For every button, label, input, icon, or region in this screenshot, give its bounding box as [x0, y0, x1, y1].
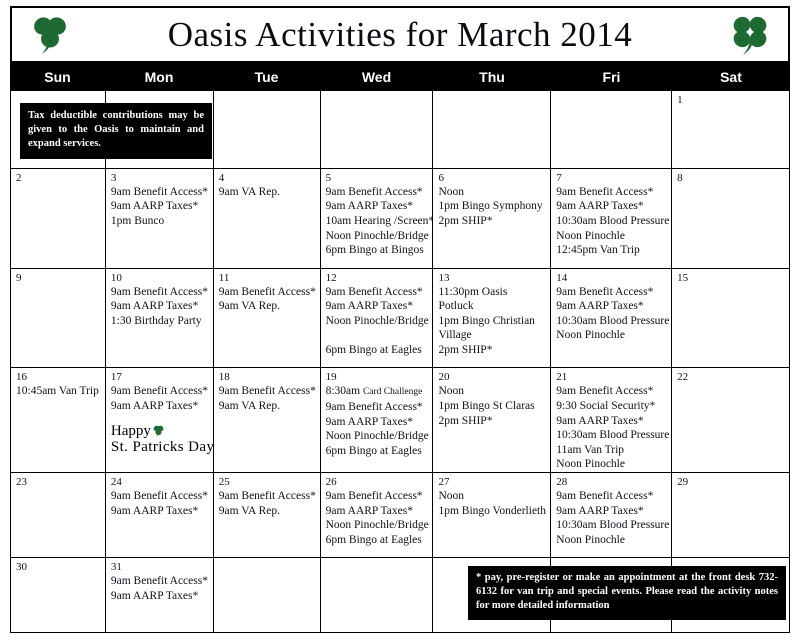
day-events: 9am Benefit Access*9am AARP Taxes*1:30 B… [111, 285, 209, 329]
calendar-page: Oasis Activities for March 2014 Sun Mon … [0, 0, 800, 643]
day-events: Noon1pm Bingo Symphony2pm SHIP* [438, 185, 546, 229]
event-item[interactable]: 10:30am Blood Pressure [556, 428, 667, 443]
event-item[interactable]: 2pm SHIP* [438, 414, 546, 429]
day-number: 9 [16, 272, 101, 285]
day-cell-9[interactable]: 9 [11, 269, 106, 369]
event-item[interactable]: 9am AARP Taxes* [556, 504, 667, 519]
day-cell-8[interactable]: 8 [672, 169, 790, 269]
calendar-week-row: 1610:45am Van Trip179am Benefit Access*9… [11, 368, 790, 473]
day-cell-25[interactable]: 259am Benefit Access*9am VA Rep. [214, 473, 321, 558]
day-cell-7[interactable]: 79am Benefit Access*9am AARP Taxes* 10:3… [551, 169, 672, 269]
event-item[interactable]: 1pm Bunco [111, 214, 209, 229]
event-item[interactable]: 9am Benefit Access* [556, 185, 667, 200]
page-title: Oasis Activities for March 2014 [70, 17, 730, 52]
event-item[interactable]: Noon Pinochle/Bridge [326, 314, 429, 329]
weekday-header-row: Sun Mon Tue Wed Thu Fri Sat [10, 63, 790, 90]
day-number: 13 [438, 272, 546, 285]
shamrock-icon [152, 424, 165, 437]
day-cell-13[interactable]: 1311:30pm OasisPotluck1pm Bingo Christia… [433, 269, 551, 369]
day-number: 23 [16, 476, 101, 489]
day-cell-empty [551, 91, 672, 169]
event-item[interactable]: 9am Benefit Access* [556, 384, 667, 399]
event-item[interactable]: 9am VA Rep. [219, 504, 316, 519]
day-cell-2[interactable]: 2 [11, 169, 106, 269]
event-item[interactable]: 9am AARP Taxes* [556, 299, 667, 314]
day-number: 28 [556, 476, 667, 489]
day-cell-31[interactable]: 319am Benefit Access*9am AARP Taxes* [106, 558, 214, 633]
day-number: 24 [111, 476, 209, 489]
day-events: 9am Benefit Access*9am AARP Taxes*Noon P… [326, 285, 429, 358]
day-cell-14[interactable]: 149am Benefit Access*9am AARP Taxes* 10:… [551, 269, 672, 369]
day-number: 2 [16, 172, 101, 185]
day-cell-26[interactable]: 269am Benefit Access*9am AARP Taxes*Noon… [321, 473, 434, 558]
event-item[interactable]: 9am Benefit Access* [219, 384, 316, 399]
event-item[interactable]: 1pm Bingo St Claras [438, 399, 546, 414]
day-cell-24[interactable]: 249am Benefit Access*9am AARP Taxes* [106, 473, 214, 558]
event-item[interactable]: 9am VA Rep. [219, 399, 316, 414]
event-item[interactable]: 9:30 Social Security* [556, 399, 667, 414]
day-cell-17[interactable]: 179am Benefit Access*9am AARP Taxes*Happ… [106, 368, 214, 473]
event-item[interactable]: 12:45pm Van Trip [556, 243, 667, 258]
day-cell-6[interactable]: 6Noon1pm Bingo Symphony2pm SHIP* [433, 169, 551, 269]
day-cell-10[interactable]: 109am Benefit Access*9am AARP Taxes*1:30… [106, 269, 214, 369]
event-item[interactable]: 9am AARP Taxes* [111, 504, 209, 519]
day-number: 1 [677, 94, 785, 107]
day-number: 31 [111, 561, 209, 574]
day-number: 21 [556, 371, 667, 384]
event-item[interactable]: 6pm Bingo at Eagles [326, 444, 429, 459]
four-leaf-clover-icon [730, 13, 770, 57]
day-events: 9am Benefit Access*9am AARP Taxes* [111, 489, 209, 518]
weekday-tue: Tue [213, 63, 320, 90]
event-item[interactable]: 9am Benefit Access* [111, 574, 209, 589]
event-item[interactable]: 1:30 Birthday Party [111, 314, 209, 329]
day-number: 8 [677, 172, 785, 185]
day-number: 3 [111, 172, 209, 185]
event-item[interactable]: Noon [438, 489, 546, 504]
day-cell-22[interactable]: 22 [672, 368, 790, 473]
event-spacer [326, 328, 429, 343]
event-item[interactable]: 1pm Bingo Symphony [438, 199, 546, 214]
day-number: 4 [219, 172, 316, 185]
st-patricks-line2: St. Patricks Day [111, 439, 209, 455]
day-events: 9am Benefit Access*9am AARP Taxes* 1pm B… [111, 185, 209, 229]
event-item[interactable]: 9am Benefit Access* [556, 285, 667, 300]
event-item[interactable]: 8:30am Card Challenge [326, 384, 429, 400]
st-patricks-line1: Happy [111, 423, 151, 439]
calendar-week-row: 239am Benefit Access*9am AARP Taxes* 1pm… [11, 169, 790, 269]
event-item[interactable]: 9am Benefit Access* [111, 489, 209, 504]
day-events: Noon1pm Bingo St Claras2pm SHIP* [438, 384, 546, 428]
day-number: 18 [219, 371, 316, 384]
event-item[interactable]: Noon Pinochle [556, 229, 667, 244]
event-item[interactable]: 9am Benefit Access* [326, 285, 429, 300]
day-cell-empty [214, 91, 321, 169]
day-cell-19[interactable]: 198:30am Card Challenge9am Benefit Acces… [321, 368, 434, 473]
day-events: 9am Benefit Access*9:30 Social Security*… [556, 384, 667, 472]
weekday-sun: Sun [10, 63, 105, 90]
day-cell-4[interactable]: 49am VA Rep. [214, 169, 321, 269]
event-item[interactable]: 2pm SHIP* [438, 214, 546, 229]
event-item[interactable]: 9am AARP Taxes* [111, 399, 209, 414]
day-number: 6 [438, 172, 546, 185]
title-banner: Oasis Activities for March 2014 [10, 6, 790, 63]
day-cell-29[interactable]: 29 [672, 473, 790, 558]
day-events: 10:45am Van Trip [16, 384, 101, 399]
day-events: 9am Benefit Access*9am VA Rep. [219, 489, 316, 518]
day-number: 20 [438, 371, 546, 384]
day-cell-21[interactable]: 219am Benefit Access*9:30 Social Securit… [551, 368, 672, 473]
day-cell-16[interactable]: 1610:45am Van Trip [11, 368, 106, 473]
event-item[interactable]: 10am Hearing /Screen* [326, 214, 429, 229]
day-number: 15 [677, 272, 785, 285]
event-item[interactable]: Noon [438, 384, 546, 399]
day-events: 11:30pm OasisPotluck1pm Bingo ChristianV… [438, 285, 546, 358]
day-events: 8:30am Card Challenge9am Benefit Access*… [326, 384, 429, 458]
event-item[interactable]: Noon Pinochle/Bridge [326, 229, 429, 244]
day-events: 9am Benefit Access*9am AARP Taxes* 10:30… [556, 489, 667, 547]
event-item[interactable]: Noon [438, 185, 546, 200]
event-item[interactable]: 9am AARP Taxes* [326, 415, 429, 430]
event-item[interactable]: 10:45am Van Trip [16, 384, 101, 399]
event-item[interactable]: Potluck [438, 299, 546, 314]
event-item[interactable]: 9am Benefit Access* [556, 489, 667, 504]
day-events: 9am Benefit Access*9am AARP Taxes*Noon P… [326, 489, 429, 547]
st-patricks-day-graphic: HappySt. Patricks Day [111, 423, 209, 455]
event-item[interactable]: Noon Pinochle/Bridge [326, 429, 429, 444]
event-item[interactable]: 1pm Bingo Vonderlieth [438, 504, 546, 519]
day-cell-23[interactable]: 23 [11, 473, 106, 558]
event-item[interactable]: Noon Pinochle [556, 457, 667, 472]
weekday-mon: Mon [105, 63, 213, 90]
calendar-week-row: 9109am Benefit Access*9am AARP Taxes*1:3… [11, 269, 790, 369]
event-item[interactable]: 10:30am Blood Pressure [556, 518, 667, 533]
event-item[interactable]: 9am AARP Taxes* [111, 299, 209, 314]
day-number: 19 [326, 371, 429, 384]
event-item[interactable]: 9am AARP Taxes* [111, 589, 209, 604]
event-item[interactable]: 9am VA Rep. [219, 185, 316, 200]
tax-deductible-note: Tax deductible contributions may be give… [20, 103, 212, 159]
day-events: 9am Benefit Access*9am AARP Taxes* [111, 574, 209, 603]
event-item[interactable]: 9am VA Rep. [219, 299, 316, 314]
day-cell-empty [321, 558, 434, 633]
event-item[interactable]: 1pm Bingo Christian [438, 314, 546, 329]
day-events: 9am VA Rep. [219, 185, 316, 200]
day-number: 16 [16, 371, 101, 384]
day-number: 26 [326, 476, 429, 489]
day-number: 11 [219, 272, 316, 285]
day-cell-5[interactable]: 59am Benefit Access*9am AARP Taxes* 10am… [321, 169, 434, 269]
event-item[interactable]: 6pm Bingo at Eagles [326, 533, 429, 548]
day-cell-15[interactable]: 15 [672, 269, 790, 369]
day-number: 12 [326, 272, 429, 285]
footer-note: * pay, pre-register or make an appointme… [468, 566, 786, 620]
event-item[interactable]: 10:30am Blood Pressure [556, 214, 667, 229]
day-number: 27 [438, 476, 546, 489]
event-item[interactable]: 9am AARP Taxes* [326, 504, 429, 519]
day-cell-1[interactable]: 1 [672, 91, 790, 169]
day-cell-30[interactable]: 30 [11, 558, 106, 633]
event-item[interactable]: Noon Pinochle [556, 328, 667, 343]
day-events: 9am Benefit Access*9am AARP Taxes*HappyS… [111, 384, 209, 454]
event-item[interactable]: 9am AARP Taxes* [326, 199, 429, 214]
day-cell-27[interactable]: 27Noon1pm Bingo Vonderlieth [433, 473, 551, 558]
event-item[interactable]: 9am AARP Taxes* [326, 299, 429, 314]
event-item[interactable]: Village [438, 328, 546, 343]
day-number: 25 [219, 476, 316, 489]
event-item[interactable]: 10:30am Blood Pressure [556, 314, 667, 329]
event-item[interactable]: 9am Benefit Access* [326, 489, 429, 504]
weekday-wed: Wed [320, 63, 433, 90]
event-item[interactable]: 9am Benefit Access* [326, 400, 429, 415]
day-events: 9am Benefit Access*9am AARP Taxes* 10:30… [556, 285, 667, 343]
weekday-thu: Thu [433, 63, 551, 90]
event-item[interactable]: 9am Benefit Access* [111, 285, 209, 300]
day-events: Noon1pm Bingo Vonderlieth [438, 489, 546, 518]
shamrock-icon [30, 13, 70, 57]
calendar-week-row: 23249am Benefit Access*9am AARP Taxes*25… [11, 473, 790, 558]
event-item[interactable]: Noon Pinochle [556, 533, 667, 548]
weekday-fri: Fri [551, 63, 672, 90]
event-item[interactable]: 9am Benefit Access* [326, 185, 429, 200]
event-item[interactable]: 9am Benefit Access* [111, 384, 209, 399]
day-cell-12[interactable]: 129am Benefit Access*9am AARP Taxes*Noon… [321, 269, 434, 369]
event-item[interactable]: 9am AARP Taxes* [556, 199, 667, 214]
day-number: 5 [326, 172, 429, 185]
day-number: 29 [677, 476, 785, 489]
event-item[interactable]: 2pm SHIP* [438, 343, 546, 358]
day-cell-28[interactable]: 289am Benefit Access*9am AARP Taxes* 10:… [551, 473, 672, 558]
event-item[interactable]: 9am Benefit Access* [219, 285, 316, 300]
day-cell-empty [321, 91, 434, 169]
calendar-grid: 1239am Benefit Access*9am AARP Taxes* 1p… [10, 90, 790, 633]
day-cell-18[interactable]: 189am Benefit Access*9am VA Rep. [214, 368, 321, 473]
weekday-sat: Sat [672, 63, 790, 90]
day-events: 9am Benefit Access*9am VA Rep. [219, 384, 316, 413]
event-item[interactable]: Noon Pinochle/Bridge [326, 518, 429, 533]
event-item[interactable]: 9am AARP Taxes* [111, 199, 209, 214]
day-number: 10 [111, 272, 209, 285]
day-number: 17 [111, 371, 209, 384]
day-cell-3[interactable]: 39am Benefit Access*9am AARP Taxes* 1pm … [106, 169, 214, 269]
day-number: 22 [677, 371, 785, 384]
day-events: 9am Benefit Access*9am AARP Taxes* 10am … [326, 185, 429, 258]
event-item[interactable]: 9am AARP Taxes* [556, 414, 667, 429]
day-cell-empty [433, 91, 551, 169]
day-cell-20[interactable]: 20Noon1pm Bingo St Claras2pm SHIP* [433, 368, 551, 473]
day-cell-11[interactable]: 119am Benefit Access*9am VA Rep. [214, 269, 321, 369]
event-item[interactable]: 6pm Bingo at Eagles [326, 343, 429, 358]
day-number: 30 [16, 561, 101, 574]
day-events: 9am Benefit Access*9am VA Rep. [219, 285, 316, 314]
day-number: 14 [556, 272, 667, 285]
event-item[interactable]: 11:30pm Oasis [438, 285, 546, 300]
day-events: 9am Benefit Access*9am AARP Taxes* 10:30… [556, 185, 667, 258]
event-item[interactable]: 9am Benefit Access* [111, 185, 209, 200]
event-item[interactable]: 6pm Bingo at Bingos [326, 243, 429, 258]
day-number: 7 [556, 172, 667, 185]
day-cell-empty [214, 558, 321, 633]
event-item[interactable]: 11am Van Trip [556, 443, 667, 458]
event-item[interactable]: 9am Benefit Access* [219, 489, 316, 504]
